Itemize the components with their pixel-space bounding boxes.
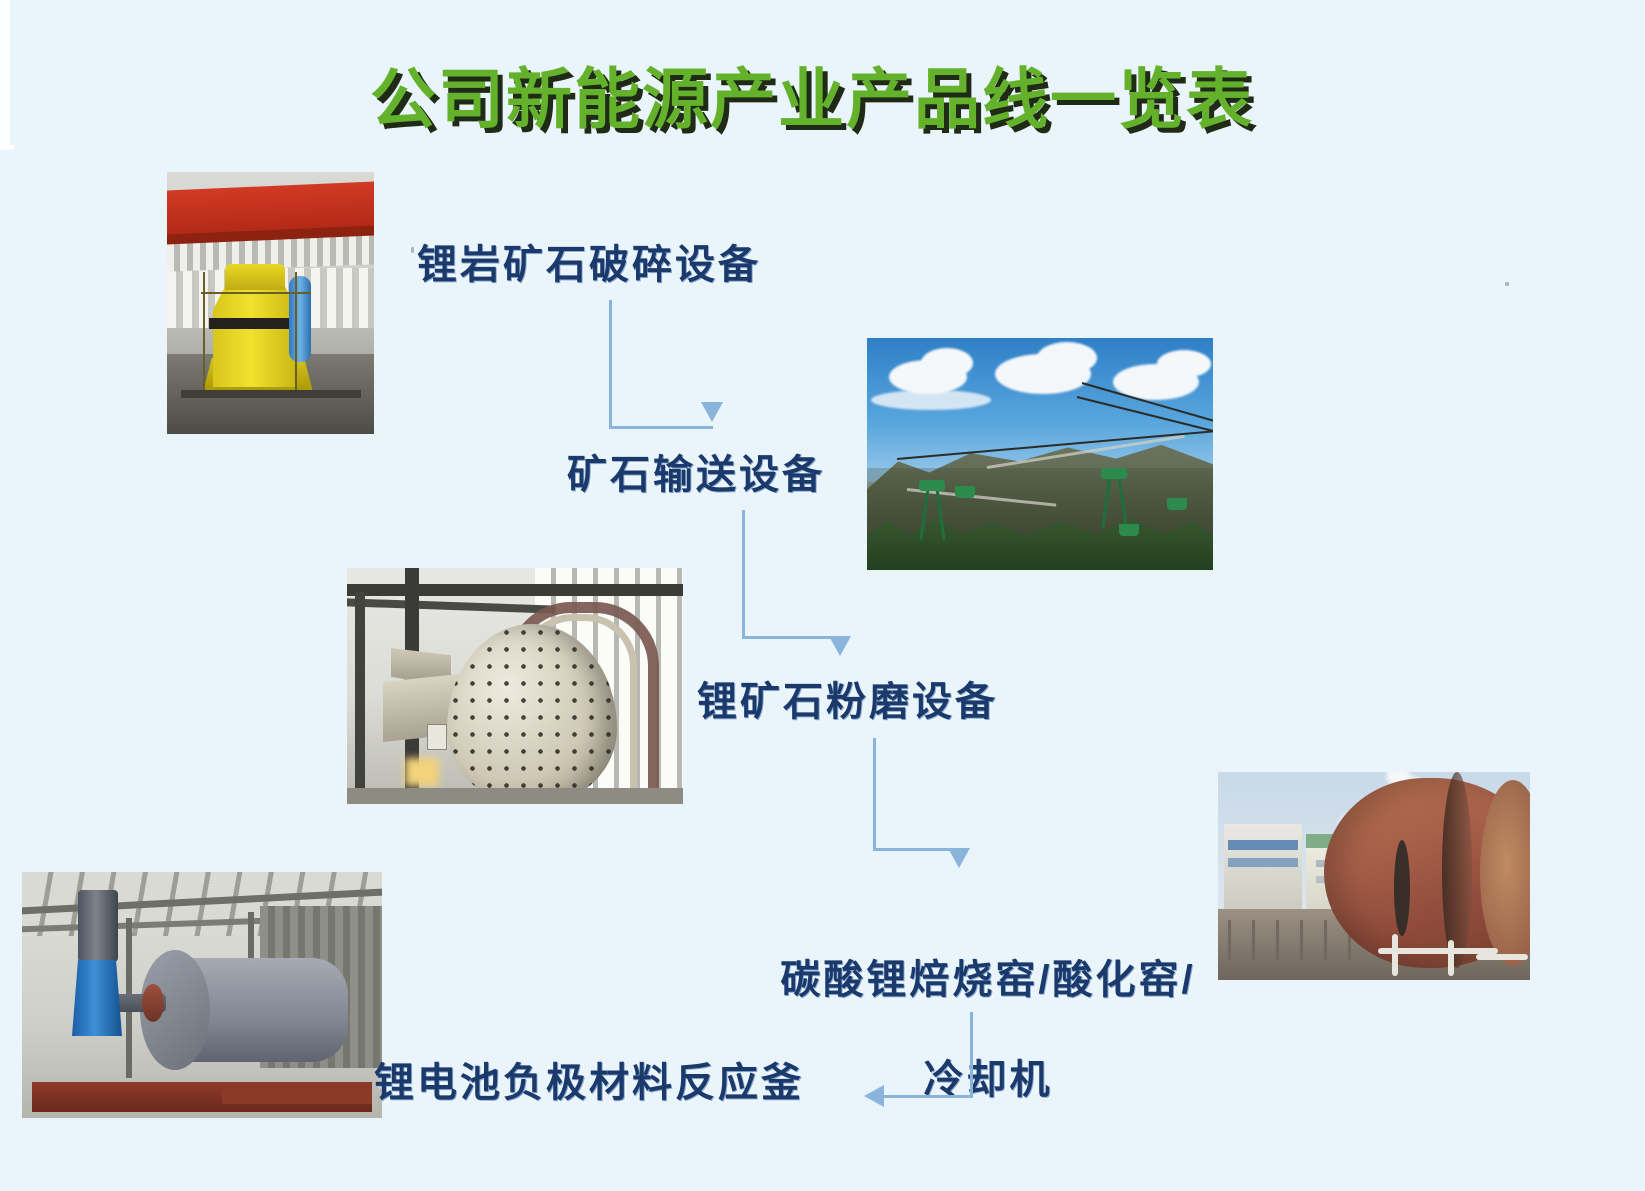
- lithium-rock-cone-crusher-photo: [167, 172, 374, 434]
- step-label-grinding: 锂矿石粉磨设备: [697, 677, 998, 727]
- rotary-kiln-photo: [1218, 772, 1530, 980]
- step-label-crushing: 锂岩矿石破碎设备: [417, 240, 761, 290]
- step-label-conveying: 矿石输送设备: [567, 450, 825, 500]
- left-white-band: [0, 0, 10, 150]
- left-white-band-tail: [0, 145, 14, 149]
- step-label-calcining: 碳酸锂焙烧窑/酸化窑/ 冷却机: [758, 905, 1218, 1105]
- ball-mill-photo: [347, 568, 683, 804]
- ore-ropeway-conveyor-photo: [867, 338, 1213, 570]
- step-label-reactor: 锂电池负极材料反应釜: [374, 1058, 804, 1108]
- stray-speck-left: [411, 247, 414, 253]
- anode-material-reactor-photo: [22, 872, 382, 1118]
- step-label-calcining-line1: 碳酸锂焙烧窑/酸化窑/: [780, 958, 1195, 1002]
- stray-speck-right: [1505, 282, 1509, 286]
- page-title: 公司新能源产业产品线一览表: [370, 46, 1270, 142]
